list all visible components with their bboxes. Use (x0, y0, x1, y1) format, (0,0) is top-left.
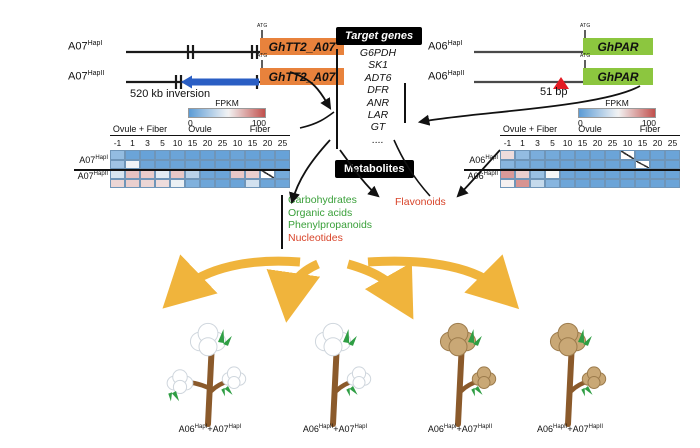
caption-genotype-b: A07HapI (213, 424, 242, 434)
plant-svg (150, 296, 270, 426)
cotton-boll (222, 367, 245, 389)
plant-illustration (150, 296, 270, 426)
plant-illustration (400, 296, 520, 426)
cotton-boll (472, 367, 495, 389)
plants-row: A06HapI+A07HapIA06HapII+A07HapIA06HapI+A… (0, 296, 700, 448)
cotton-boll (347, 367, 370, 389)
caption-genotype-a: A06HapII (303, 424, 333, 434)
cotton-boll (167, 370, 193, 394)
plant-caption: A06HapII+A07HapII (488, 424, 652, 434)
caption-genotype-a: A06HapI (179, 424, 208, 434)
plant-svg (275, 296, 395, 426)
plant-svg (510, 296, 630, 426)
caption-plus: + (207, 424, 212, 434)
caption-plus: + (457, 424, 462, 434)
plant-illustration (275, 296, 395, 426)
caption-genotype-a: A06HapII (537, 424, 567, 434)
caption-genotype-b: A07HapI (338, 424, 367, 434)
plant-svg (400, 296, 520, 426)
plant-illustration (510, 296, 630, 426)
cotton-boll (582, 367, 605, 389)
figure-canvas: A07HapI ATG GhTT2_A07 A07HapII (0, 0, 700, 448)
caption-plus: + (567, 424, 572, 434)
caption-genotype-b: A07HapII (573, 424, 603, 434)
caption-genotype-a: A06HapI (428, 424, 457, 434)
